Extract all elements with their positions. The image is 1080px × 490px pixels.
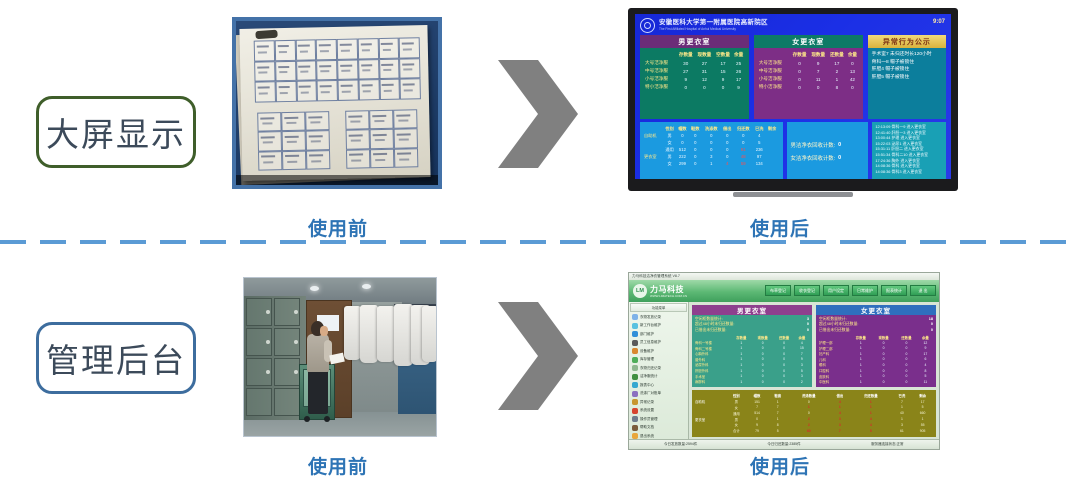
table-cell: 合计	[726, 428, 747, 434]
table-body: 自助机男1511041717女7711115通用514704140660更衣室男…	[695, 399, 933, 434]
status-bar-item: 服务器连接状态:正常	[836, 442, 939, 447]
column-header: 洗涤数	[702, 125, 721, 132]
table-body: 自助机男000004女000005通用51200061236更衣室男222030…	[644, 132, 779, 167]
ledger-cell	[338, 80, 359, 101]
hanging-coat	[344, 306, 361, 360]
table-cell: 9	[714, 75, 733, 83]
sidebar-item-icon	[632, 391, 638, 397]
ledger-cell	[370, 148, 394, 168]
ledger-cell	[275, 60, 296, 81]
table-cell: 79	[747, 428, 768, 434]
ledger-cell	[275, 81, 296, 102]
column-header: 帽数	[676, 125, 689, 132]
app-status-bar: 今日发放数量:2594件今日归还数量:2385件服务器连接状态:正常	[629, 439, 939, 449]
toolbar-button-5[interactable]: 报表统计	[881, 285, 907, 296]
table-cell: 男	[663, 132, 676, 139]
ledger-cell	[258, 151, 282, 171]
table-cell	[644, 146, 663, 153]
table-cell: 0	[676, 139, 689, 146]
table-row: 麻醉科1002	[695, 379, 809, 385]
table-row: 女29901459134	[644, 160, 779, 167]
sidebar-item-1[interactable]: 衣物发放记录	[630, 313, 687, 322]
toolbar-button-2[interactable]: 收衣登记	[794, 285, 820, 296]
table-cell: 0	[689, 153, 702, 160]
table-cell: 0	[702, 139, 721, 146]
table-cell: 15	[714, 67, 733, 75]
ledger-cell	[296, 81, 317, 102]
sidebar-item-icon	[632, 357, 638, 363]
sidebar-item-icon	[632, 340, 638, 346]
counter-value: 0	[838, 142, 841, 148]
app-women-table: 存数量现数量还数量余量 护理一部10012护理二部1009妇产科10017儿科1…	[819, 334, 933, 384]
ledger-cell	[346, 149, 370, 169]
column-header: 存数量	[676, 51, 695, 59]
sidebar-item-3[interactable]: 部门维护	[630, 330, 687, 339]
sidebar-item-4[interactable]: 员工信息维护	[630, 339, 687, 348]
counter-label: 男洁净衣回收计数:	[791, 141, 836, 149]
app-women-stats: 空闲柜数量统计:18超过48小时未归还数量:0已借出未归还数量:0	[819, 317, 933, 333]
sidebar-item-label: 退出系统	[640, 434, 654, 439]
table-cell	[695, 428, 726, 434]
table-cell: 4	[721, 160, 734, 167]
table-cell: 0	[721, 132, 734, 139]
locker-bank	[244, 296, 306, 420]
column-header	[758, 51, 790, 59]
locker-knob-icon	[266, 340, 270, 344]
sidebar-item-label: 衣物归还记录	[640, 366, 661, 371]
column-header: 借出	[721, 125, 734, 132]
table-cell: 自助机	[644, 132, 663, 139]
ledger-cell	[400, 79, 421, 100]
hanging-coat	[377, 306, 395, 362]
column-header: 余量	[732, 51, 744, 59]
hanging-coat	[422, 306, 437, 362]
table-header-row: 存数量现数量还数量余量	[758, 51, 859, 59]
status-bar-item: 今日发放数量:2594件	[629, 442, 732, 447]
table-row: 合计795607561905	[695, 428, 933, 434]
ledger-cell	[337, 59, 358, 80]
sidebar-item-label: 设备维护	[640, 349, 654, 354]
table-cell: 5	[767, 428, 788, 434]
tv-men-table: 存数量现数量空数量余量 大号洁净服30271725中号洁净服27311526小号…	[644, 51, 745, 91]
sidebar-item-14[interactable]: 帮助文档	[630, 424, 687, 433]
app-brand: 力马科技 WWW.LIMATECH.COM.CN	[650, 285, 687, 298]
ledger-cell	[317, 80, 338, 101]
table-body: 骨科一号楼1004骨科二号楼10015心胸外科1007普外科1009泌尿外科10…	[695, 340, 809, 385]
toolbar-button-3[interactable]: 用户设定	[823, 285, 849, 296]
sidebar-item-label: 新工作台维护	[640, 323, 661, 328]
ledger-cell	[316, 60, 337, 81]
sidebar-item-icon	[632, 374, 638, 380]
column-header: 已洗	[753, 125, 766, 132]
table-cell: 27	[676, 67, 695, 75]
table-cell: 61	[892, 428, 913, 434]
locker-cell	[274, 388, 300, 416]
table-cell: 512	[676, 146, 689, 153]
sidebar-item-label: 洗涤厂对账单	[640, 391, 661, 396]
chevron-right-icon	[492, 58, 582, 170]
table-cell: 0	[790, 83, 809, 91]
table-row: 大号洁净服09170	[758, 59, 859, 67]
table-cell: 26	[732, 67, 744, 75]
sidebar-item-6[interactable]: 库存管理	[630, 356, 687, 365]
counter-value: 0	[838, 155, 841, 161]
ledger-cell	[257, 112, 281, 132]
sidebar-item-13[interactable]: 操作员管理	[630, 415, 687, 424]
locker-knob-icon	[294, 340, 298, 344]
ledger-cell	[399, 37, 420, 58]
table-cell: 0	[702, 146, 721, 153]
tv-notice-list: 手术室7 未归还时长120小时骨科一8 帽子被锁住肝胆4 帽子被锁住肝胆5 帽子…	[868, 48, 946, 119]
table-cell: 17	[714, 59, 733, 67]
ledger-cell	[345, 110, 369, 130]
sidebar-item-icon	[632, 408, 638, 414]
table-cell: 905	[912, 428, 933, 434]
sidebar-item-icon	[632, 323, 638, 329]
sidebar-item-label: 报表中心	[640, 383, 654, 388]
toolbar-button-6[interactable]: 退 出	[910, 285, 936, 296]
table-cell: 0	[689, 132, 702, 139]
tv-panel-men: 男更衣室 存数量现数量空数量余量 大号洁净服30271725中号洁净服27311…	[640, 35, 749, 119]
toolbar-button-4[interactable]: 日常维护	[852, 285, 878, 296]
table-cell: 2	[795, 379, 809, 385]
sidebar-item-icon	[632, 425, 638, 431]
table-row: 特小洁净服0080	[758, 83, 859, 91]
chevron-right-icon	[492, 300, 582, 412]
column-header: 归还数	[734, 125, 753, 132]
status-bar-item: 今日归还数量:2385件	[732, 442, 835, 447]
tv-panel-row: 男更衣室 存数量现数量空数量余量 大号洁净服30271725中号洁净服27311…	[640, 35, 946, 119]
tv-summary-table: 性别帽数鞋数洗涤数借出归还数已洗剩余 自助机男000004女000005通用51…	[644, 125, 779, 167]
stat-row: 已借出未归还数量:0	[819, 328, 933, 333]
table-cell: 特小洁净服	[758, 83, 790, 91]
table-cell: 0	[846, 59, 858, 67]
column-header: 鞋数	[689, 125, 702, 132]
table-cell: 女	[663, 139, 676, 146]
table-cell: 61	[734, 146, 753, 153]
window-title-bar: 力马科技洁净衣管理系统 V8.7	[629, 273, 939, 280]
table-cell: 0	[734, 139, 753, 146]
sidebar-item-7[interactable]: 衣物归还记录	[630, 364, 687, 373]
sidebar-item-8[interactable]: 洁净服统计	[630, 373, 687, 382]
table-cell: 31	[695, 67, 714, 75]
sidebar-header: 功能菜单	[630, 303, 687, 312]
table-cell: 0	[790, 67, 809, 75]
column-header: 性别	[663, 125, 676, 132]
sidebar-item-icon	[632, 365, 638, 371]
table-cell: 女	[663, 160, 676, 167]
table-cell	[644, 139, 663, 146]
company-logo-icon: LM	[633, 284, 647, 298]
table-cell: 1	[702, 160, 721, 167]
notice-line: 骨科一8 帽子被锁住	[872, 59, 942, 67]
tv-big-screen: 安徽医科大学第一附属医院高新院区 The First Affiliated Ho…	[628, 8, 958, 191]
table-row: 通用51200061236	[644, 146, 779, 153]
toolbar-button-1[interactable]: 布草登记	[765, 285, 791, 296]
table-cell: 0	[721, 146, 734, 153]
ledger-cell	[296, 60, 317, 81]
table-cell: 60	[788, 428, 829, 434]
ledger-cell	[370, 129, 394, 149]
table-cell: 222	[676, 153, 689, 160]
paper-clip-icon	[255, 30, 278, 40]
table-cell: 中号洁净服	[758, 67, 790, 75]
table-cell	[644, 160, 663, 167]
table-body: 大号洁净服30271725中号洁净服27311526小号洁净服912917特小洁…	[644, 59, 745, 91]
app-bottom-table-block: 性别帽数鞋套洗涤数量借出归还数量已洗剩余 自助机男1511041717女7711…	[692, 390, 936, 437]
column-header: 余量	[846, 51, 858, 59]
tv-summary-block: 性别帽数鞋数洗涤数借出归还数已洗剩余 自助机男000004女000005通用51…	[640, 122, 783, 179]
tv-panel-notice: 异常行为公示 手术室7 未归还时长120小时骨科一8 帽子被锁住肝胆4 帽子被锁…	[868, 35, 946, 119]
column-header: 剩余	[766, 125, 779, 132]
table-cell: 大号洁净服	[644, 59, 676, 67]
table-cell: 25	[732, 59, 744, 67]
locker-knob-icon	[294, 310, 298, 314]
table-cell: 236	[753, 146, 766, 153]
tv-women-table: 存数量现数量还数量余量 大号洁净服09170中号洁净服07213小号洁净服011…	[758, 51, 859, 91]
table-cell: 2	[828, 67, 847, 75]
sidebar-item-list: 衣物发放记录新工作台维护部门维护员工信息维护设备维护库存管理衣物归还记录洁净服统…	[630, 313, 687, 441]
table-row: 中医科10011	[819, 379, 933, 385]
column-header: 空数量	[714, 51, 733, 59]
table-cell: 0	[714, 83, 733, 91]
table-cell: 11	[809, 75, 828, 83]
ledger-cell	[306, 150, 330, 170]
tv-lower-row: 性别帽数鞋数洗涤数借出归还数已洗剩余 自助机男000004女000005通用51…	[640, 122, 946, 179]
column-header: 存数量	[790, 51, 809, 59]
ledger-cell	[369, 110, 393, 130]
table-cell: 0	[721, 139, 734, 146]
table-cell: 59	[734, 160, 753, 167]
hospital-logo-icon	[640, 18, 655, 33]
stat-label: 已借出未归还数量:	[819, 328, 850, 333]
sidebar-item-label: 部门维护	[640, 332, 654, 337]
table-cell: 0	[689, 160, 702, 167]
table-cell: 小号洁净服	[644, 75, 676, 83]
tv-panel-women-title: 女更衣室	[754, 35, 863, 48]
app-men-stats: 空闲柜数量统计:3超过48小时未归还数量:0已借出未归还数量:0	[695, 317, 809, 333]
table-cell: 134	[753, 160, 766, 167]
table-row: 中号洁净服27311526	[644, 67, 745, 75]
table-cell: 0	[695, 83, 714, 91]
table-cell: 1	[828, 75, 847, 83]
table-cell: 0	[752, 379, 773, 385]
ledger-cell	[378, 38, 399, 59]
ledger-cell	[394, 148, 418, 168]
app-main-area: 男更衣室 空闲柜数量统计:3超过48小时未归还数量:0已借出未归还数量:0 存数…	[689, 302, 939, 440]
tv-panel-women-body: 存数量现数量还数量余量 大号洁净服09170中号洁净服07213小号洁净服011…	[754, 48, 863, 119]
table-row: 小号洁净服011142	[758, 75, 859, 83]
caption-top-after: 使用后	[710, 214, 850, 241]
sidebar-item-label: 帮助文档	[640, 425, 654, 430]
section-divider	[0, 240, 1080, 244]
ledger-cell	[306, 130, 330, 150]
stat-value: 0	[931, 328, 933, 333]
table-cell: 17	[732, 75, 744, 83]
row-label-big-screen: 大屏显示	[36, 96, 196, 168]
person-face	[320, 326, 328, 336]
tv-header-titles: 安徽医科大学第一附属医院高新院区 The First Affiliated Ho…	[659, 19, 768, 32]
company-logo-text: LM	[636, 288, 644, 294]
ledger-cell	[254, 40, 275, 61]
sidebar-item-11[interactable]: 异常记录	[630, 398, 687, 407]
stat-label: 已借出未归还数量:	[695, 328, 726, 333]
app-toolbar: 布草登记收衣登记用户设定日常维护报表统计退 出	[765, 285, 936, 296]
sidebar-item-icon	[632, 399, 638, 405]
cart-wheel	[324, 416, 330, 422]
table-cell: 1	[849, 379, 872, 385]
table-cell: 0	[846, 83, 858, 91]
sidebar-item-label: 操作员管理	[640, 417, 658, 422]
counter-row: 男洁净衣回收计数:0	[791, 141, 865, 149]
column-header: 还数量	[828, 51, 847, 59]
ledger-cell	[346, 130, 370, 150]
app-panel-women: 女更衣室 空闲柜数量统计:18超过48小时未归还数量:0已借出未归还数量:0 存…	[816, 305, 936, 387]
ledger-cell	[258, 131, 282, 151]
sidebar-item-icon	[632, 382, 638, 388]
sidebar-item-10[interactable]: 洗涤厂对账单	[630, 390, 687, 399]
table-cell: 5	[850, 428, 891, 434]
table-row: 自助机男000004	[644, 132, 779, 139]
table-cell: 特小洁净服	[644, 83, 676, 91]
counter-label: 女洁净衣回收计数:	[791, 154, 836, 162]
table-cell: 17	[828, 59, 847, 67]
notice-line: 肝胆4 帽子被锁住	[872, 66, 942, 74]
app-brand-en: WWW.LIMATECH.COM.CN	[650, 294, 687, 298]
table-row: 大号洁净服30271725	[644, 59, 745, 67]
table-cell: 9	[809, 59, 828, 67]
table-cell: 5	[753, 139, 766, 146]
table-cell: 通用	[663, 146, 676, 153]
table-cell: 9	[676, 75, 695, 83]
comparison-slide: 大屏显示 安徽医科大学第一附属医院高新院区 The First Aff	[0, 0, 1080, 490]
table-header-row: 存数量现数量空数量余量	[644, 51, 745, 59]
sidebar-item-label: 异常记录	[640, 400, 654, 405]
photo-locker-room	[243, 277, 437, 437]
row-label-admin-backend: 管理后台	[36, 322, 196, 394]
sidebar-item-9[interactable]: 报表中心	[630, 381, 687, 390]
arrow-top	[492, 58, 582, 170]
tv-counter-block: 男洁净衣回收计数:0女洁净衣回收计数:0	[787, 122, 869, 179]
table-cell: 0	[790, 75, 809, 83]
app-men-table: 存数量现数量还数量余量 骨科一号楼1004骨科二号楼10015心胸外科1007普…	[695, 334, 809, 384]
table-cell: 大号洁净服	[758, 59, 790, 67]
table-body: 大号洁净服09170中号洁净服07213小号洁净服011142特小洁净服0080	[758, 59, 859, 91]
tv-panel-notice-title: 异常行为公示	[868, 35, 946, 48]
table-row: 女000005	[644, 139, 779, 146]
notice-line: 肝胆5 帽子被锁住	[872, 74, 942, 82]
table-cell: 13	[846, 67, 858, 75]
app-header: LM 力马科技 WWW.LIMATECH.COM.CN 布草登记收衣登记用户设定…	[629, 280, 939, 302]
ceiling-light	[310, 286, 319, 291]
app-panel-women-body: 空闲柜数量统计:18超过48小时未归还数量:0已借出未归还数量:0 存数量现数量…	[816, 315, 936, 387]
column-header	[644, 125, 663, 132]
tv-stand	[733, 192, 853, 197]
app-panel-men: 男更衣室 空闲柜数量统计:3超过48小时未归还数量:0已借出未归还数量:0 存数…	[692, 305, 812, 387]
table-row: 中号洁净服07213	[758, 67, 859, 75]
app-panel-men-title: 男更衣室	[692, 305, 812, 315]
log-line: 14:08:36 骨科3 进入更衣室	[875, 169, 943, 175]
app-brand-cn: 力马科技	[650, 285, 687, 294]
sidebar-item-label: 库存管理	[640, 357, 654, 362]
app-body: 功能菜单 衣物发放记录新工作台维护部门维护员工信息维护设备维护库存管理衣物归还记…	[629, 302, 939, 440]
hospital-name-en: The First Affiliated Hospital of Anhui M…	[659, 27, 768, 32]
caption-top-before: 使用前	[268, 214, 408, 241]
sidebar-item-5[interactable]: 设备维护	[630, 347, 687, 356]
table-cell: 0	[702, 132, 721, 139]
tv-event-log: 12:13:09 骨科一9 进入更衣室12:41:40 肝胆一3 进入更衣室13…	[872, 122, 946, 179]
person-legs	[308, 370, 328, 414]
handwritten-grid-bottom-left	[257, 111, 330, 170]
table-cell: 小号洁净服	[758, 75, 790, 83]
locker-cell	[246, 388, 272, 416]
table-row: 小号洁净服912917	[644, 75, 745, 83]
sidebar-item-12[interactable]: 系统设置	[630, 407, 687, 416]
table-cell: 男	[663, 153, 676, 160]
tv-bezel: 安徽医科大学第一附属医院高新院区 The First Affiliated Ho…	[628, 8, 958, 191]
ledger-cell	[357, 38, 378, 59]
photo-paper-ledger	[232, 17, 442, 189]
ledger-cell	[393, 109, 417, 129]
table-cell: 97	[753, 153, 766, 160]
table-cell: 8	[828, 83, 847, 91]
ledger-cell	[282, 131, 306, 151]
handwritten-grid-bottom-right	[345, 109, 418, 168]
ledger-cell	[295, 39, 316, 60]
ledger-cell	[358, 59, 379, 80]
table-cell: 12	[695, 75, 714, 83]
table-cell: 30	[676, 59, 695, 67]
handwritten-grid-top	[254, 37, 421, 102]
row-label-big-screen-text: 大屏显示	[46, 108, 186, 156]
sidebar-item-icon	[632, 314, 638, 320]
tv-header: 安徽医科大学第一附属医院高新院区 The First Affiliated Ho…	[640, 17, 946, 34]
tv-clock: 9:07	[933, 19, 945, 25]
table-cell: 0	[689, 139, 702, 146]
ledger-cell	[305, 111, 329, 131]
table-cell: 0	[676, 83, 695, 91]
sidebar-item-label: 衣物发放记录	[640, 315, 661, 320]
table-cell: 0	[676, 132, 689, 139]
hospital-name-cn: 安徽医科大学第一附属医院高新院区	[659, 19, 768, 27]
ledger-cell	[282, 150, 306, 170]
table-cell: 0	[689, 146, 702, 153]
table-cell: 0	[721, 153, 734, 160]
sidebar-item-2[interactable]: 新工作台维护	[630, 322, 687, 331]
column-header: 现数量	[809, 51, 828, 59]
table-header-row: 性别帽数鞋数洗涤数借出归还数已洗剩余	[644, 125, 779, 132]
table-cell: 1	[731, 379, 752, 385]
table-cell: 27	[695, 59, 714, 67]
hanging-coat	[360, 305, 378, 363]
sidebar-item-icon	[632, 331, 638, 337]
ledger-cell	[274, 40, 295, 61]
table-cell: 0	[895, 379, 918, 385]
table-cell: 9	[732, 83, 744, 91]
table-cell: 麻醉科	[695, 379, 731, 385]
table-cell: 299	[676, 160, 689, 167]
tv-panel-women: 女更衣室 存数量现数量还数量余量 大号洁净服09170中号洁净服07213小号洁…	[754, 35, 863, 119]
row-label-admin-backend-text: 管理后台	[46, 334, 186, 382]
locker-knob-icon	[266, 370, 270, 374]
sidebar-item-icon	[632, 416, 638, 422]
table-cell: 0	[790, 59, 809, 67]
app-panel-men-body: 空闲柜数量统计:3超过48小时未归还数量:0已借出未归还数量:0 存数量现数量还…	[692, 315, 812, 387]
locker-knob-icon	[266, 310, 270, 314]
stat-value: 0	[807, 328, 809, 333]
photo-bottom-shadow	[236, 175, 438, 185]
ledger-cell	[358, 79, 379, 100]
